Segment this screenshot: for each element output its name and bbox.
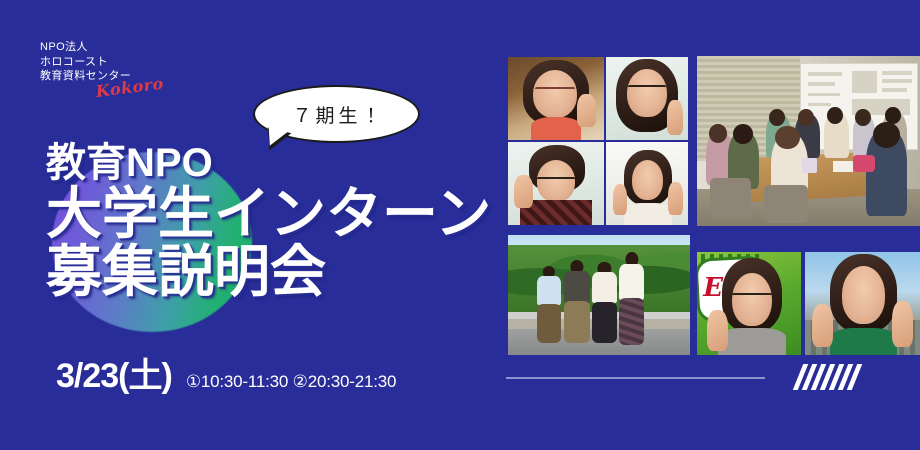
organization-logo: NPO法人 ホロコースト 教育資料センター Kokoro <box>40 40 164 102</box>
page-title: 教育NPO 大学生インターン 募集説明会 <box>46 140 491 302</box>
cohort-badge-label: ７期生！ <box>288 101 384 128</box>
diagonal-slashes-decoration <box>798 364 908 390</box>
photo-outdoor-group <box>508 235 690 355</box>
photo-video-tile-woman-glasses-orange <box>508 57 604 140</box>
event-times: ①10:30-11:30 ②20:30-21:30 <box>186 372 396 392</box>
logo-line-1: NPO法人 <box>40 40 164 55</box>
photo-video-tile-woman-white-top <box>606 142 688 225</box>
logo-line-2: ホロコースト <box>40 55 164 70</box>
photo-meeting-room-group <box>697 56 920 226</box>
photo-video-tile-man-glasses-plaid <box>508 142 604 225</box>
title-line-2: 大学生インターン <box>46 184 491 244</box>
title-line-3: 募集説明会 <box>46 242 491 302</box>
horizontal-rule-decoration <box>506 377 765 379</box>
poster-canvas: NPO法人 ホロコースト 教育資料センター Kokoro 教育NPO 大学生イン… <box>0 0 920 450</box>
photo-video-tile-woman-green-background: Ex <box>697 252 801 355</box>
schedule-row: 3/23(土) ①10:30-11:30 ②20:30-21:30 <box>56 348 396 397</box>
photo-video-tile-woman-glasses-long-hair <box>606 57 688 140</box>
photo-video-tile-woman-sky-background <box>805 252 920 355</box>
event-date: 3/23(土) <box>56 348 172 397</box>
